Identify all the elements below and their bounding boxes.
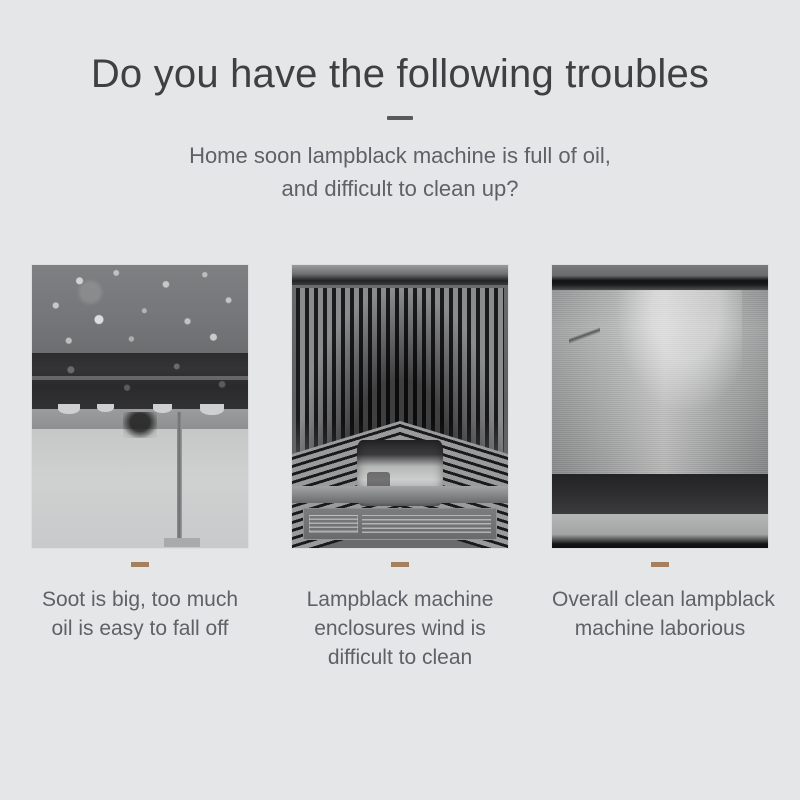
stainless-steel-spatter-photo	[552, 265, 768, 548]
steel-bottom-edge	[552, 514, 768, 548]
range-hood-grille-fan-photo	[292, 265, 508, 548]
hood-top-rail	[292, 265, 508, 285]
trouble-card-1: Soot is big, too much oil is easy to fal…	[32, 265, 248, 672]
page-title: Do you have the following troubles	[0, 52, 800, 96]
caption-3-line-1: Overall clean lampblack	[552, 585, 768, 614]
card-caption-3: Overall clean lampblack machine laboriou…	[552, 585, 768, 643]
header: Do you have the following troubles Home …	[0, 52, 800, 205]
trouble-card-2: Lampblack machine enclosures wind is dif…	[292, 265, 508, 672]
subtitle-line-1: Home soon lampblack machine is full of o…	[90, 139, 710, 172]
label-title-block	[309, 515, 358, 533]
lower-wall-surface	[32, 429, 248, 548]
promo-banner: Do you have the following troubles Home …	[0, 0, 800, 800]
support-pole	[177, 412, 182, 542]
dark-grease-band	[32, 353, 248, 410]
card-divider-3	[651, 562, 669, 567]
caption-3-line-2: machine laborious	[552, 614, 768, 643]
caption-2-line-1: Lampblack machine	[292, 585, 508, 614]
card-divider-2	[391, 562, 409, 567]
card-caption-2: Lampblack machine enclosures wind is dif…	[292, 585, 508, 672]
subtitle: Home soon lampblack machine is full of o…	[90, 139, 710, 205]
steel-dark-band	[552, 474, 768, 514]
title-divider	[387, 116, 413, 120]
label-text-lines	[362, 515, 491, 534]
hood-label-sticker	[303, 508, 497, 539]
oil-smudge	[123, 412, 158, 437]
steel-top-edge	[552, 265, 768, 290]
trouble-card-3: Overall clean lampblack machine laboriou…	[552, 265, 768, 672]
soot-speckled-upper-panel	[32, 265, 248, 353]
trouble-card-list: Soot is big, too much oil is easy to fal…	[32, 265, 768, 672]
caption-2-line-2: enclosures wind is	[292, 614, 508, 643]
pole-base	[164, 538, 201, 546]
caption-2-line-3: difficult to clean	[292, 643, 508, 672]
card-divider-1	[131, 562, 149, 567]
hood-lower-rail	[292, 486, 508, 503]
card-caption-1: Soot is big, too much oil is easy to fal…	[32, 585, 248, 643]
caption-1-line-2: oil is easy to fall off	[32, 614, 248, 643]
greasy-range-hood-surface-photo	[32, 265, 248, 548]
caption-1-line-1: Soot is big, too much	[32, 585, 248, 614]
subtitle-line-2: and difficult to clean up?	[90, 172, 710, 205]
